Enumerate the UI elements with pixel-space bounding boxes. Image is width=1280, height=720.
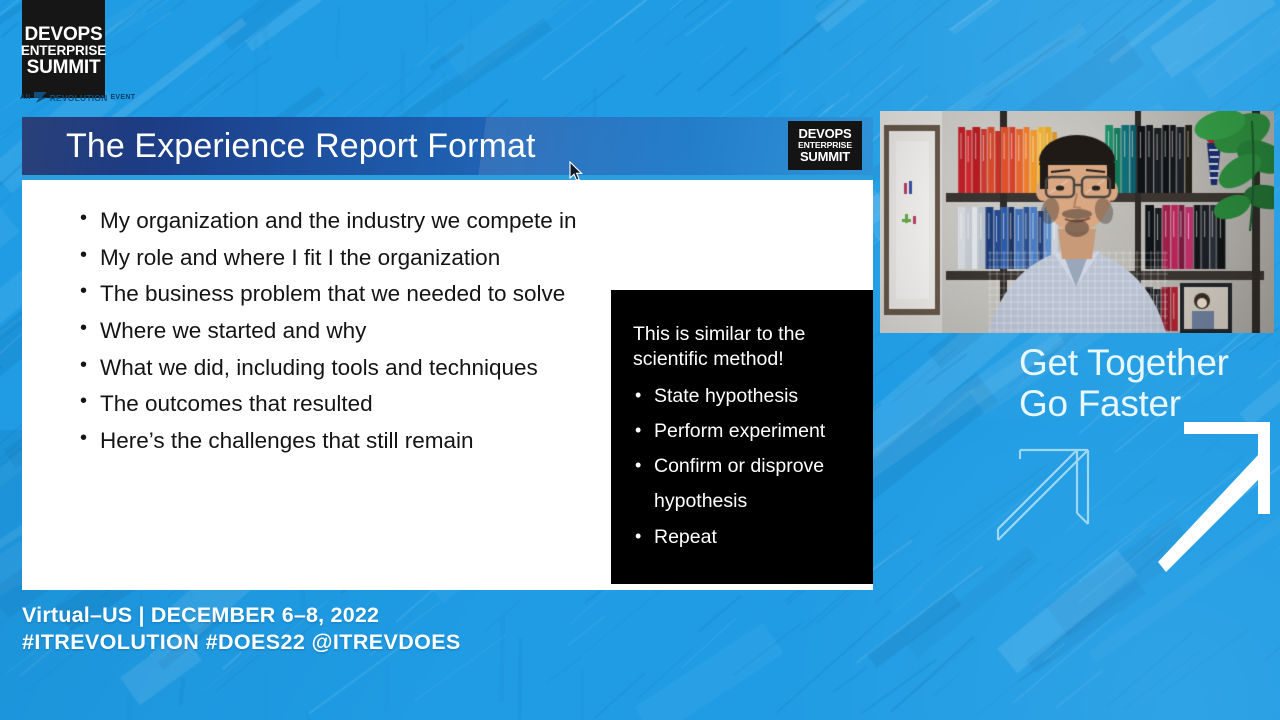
tagline-line1: Get Together <box>1019 343 1229 384</box>
list-item: The outcomes that resulted <box>78 387 598 422</box>
does-logo-line3: SUMMIT <box>27 58 101 77</box>
mouse-cursor-icon <box>569 161 583 187</box>
slide-bullet-list: My organization and the industry we comp… <box>78 204 598 460</box>
slide-title-bar: The Experience Report Format DEVOPS ENTE… <box>22 117 873 175</box>
does-logo: DEVOPS ENTERPRISE SUMMIT <box>22 0 105 98</box>
callout-list: State hypothesis Perform experiment Conf… <box>633 379 853 554</box>
does-sub-prefix: AN <box>20 94 31 101</box>
slide-logo-line1: DEVOPS <box>799 127 852 141</box>
tagline-line2: Go Faster <box>1019 384 1229 425</box>
scientific-method-callout: This is similar to the scientific method… <box>611 290 873 584</box>
event-banner: Virtual–US | DECEMBER 6–8, 2022 #ITREVOL… <box>22 602 461 655</box>
list-item: My organization and the industry we comp… <box>78 204 598 239</box>
does-logo-line1: DEVOPS <box>25 25 103 44</box>
event-banner-dates: Virtual–US | DECEMBER 6–8, 2022 <box>22 602 461 629</box>
list-item: Where we started and why <box>78 314 598 349</box>
it-revolution-mark-icon <box>34 92 47 103</box>
list-item: Repeat <box>633 520 853 555</box>
list-item: Here’s the challenges that still remain <box>78 424 598 459</box>
arrow-solid-icon <box>1158 422 1270 572</box>
does-logo-subtitle: AN REVOLUTION EVENT <box>20 92 135 103</box>
slide-does-logo: DEVOPS ENTERPRISE SUMMIT <box>788 121 862 170</box>
presentation-slide: The Experience Report Format DEVOPS ENTE… <box>22 117 873 590</box>
list-item: Confirm or disprove hypothesis <box>633 449 853 519</box>
arrow-outline-icon <box>998 450 1088 540</box>
callout-heading: This is similar to the scientific method… <box>633 322 853 371</box>
list-item: My role and where I fit I the organizati… <box>78 241 598 276</box>
does-sub-brand: REVOLUTION <box>50 93 108 103</box>
list-item: Perform experiment <box>633 414 853 449</box>
slide-logo-line3: SUMMIT <box>800 150 850 164</box>
list-item: State hypothesis <box>633 379 853 414</box>
arrow-graphics <box>980 400 1280 580</box>
slide-body: My organization and the industry we comp… <box>22 180 873 590</box>
speaker-video-frame <box>880 111 1274 333</box>
does-sub-suffix: EVENT <box>110 94 135 101</box>
speaker-video-feed[interactable] <box>880 111 1274 333</box>
list-item: The business problem that we needed to s… <box>78 277 598 312</box>
event-banner-hashtags: #ITREVOLUTION #DOES22 @ITREVDOES <box>22 629 461 656</box>
does-logo-line2: ENTERPRISE <box>21 44 106 58</box>
list-item: What we did, including tools and techniq… <box>78 351 598 386</box>
event-tagline: Get Together Go Faster <box>1019 343 1229 424</box>
slide-title: The Experience Report Format <box>66 127 536 166</box>
